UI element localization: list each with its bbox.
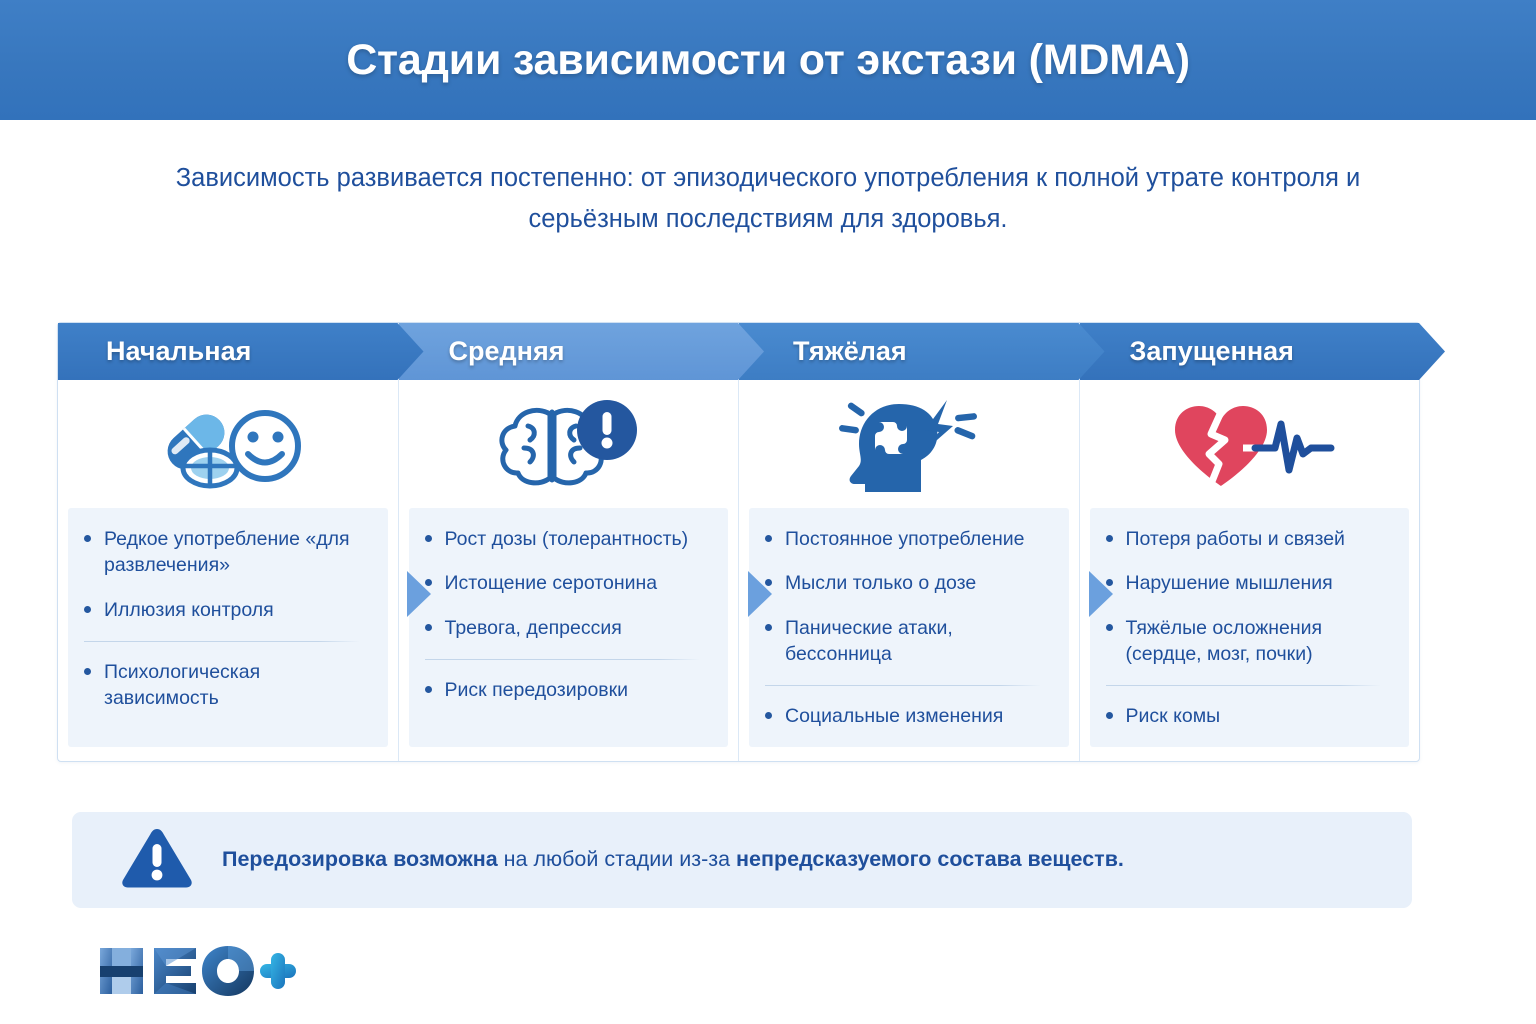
logo-neo-plus[interactable] — [96, 940, 296, 1002]
bullet-dot — [84, 535, 91, 542]
warning-text-bold-2: непредсказуемого состава веществ. — [736, 847, 1124, 871]
list-item-text: Тяжёлые осложнения (сердце, мозг, почки) — [1126, 617, 1323, 665]
list-item: Тяжёлые осложнения (сердце, мозг, почки) — [1104, 615, 1396, 668]
list-item-text: Риск комы — [1126, 705, 1221, 727]
list-item: Риск комы — [1104, 685, 1396, 729]
list-item: Истощение серотонина — [423, 570, 715, 596]
list-item-text: Постоянное употребление — [785, 528, 1025, 550]
bullet-dot — [425, 686, 432, 693]
warning-triangle-icon — [120, 826, 194, 895]
stages-card: Начальная — [57, 322, 1420, 762]
stage-body-severe: Постоянное употребление Мысли только о д… — [749, 508, 1069, 747]
warning-text: Передозировка возможна на любой стадии и… — [222, 845, 1124, 874]
page-subtitle: Зависимость развивается постепенно: от э… — [168, 158, 1368, 241]
bullet-dot — [765, 624, 772, 631]
broken-heart-ecg-icon — [1080, 380, 1420, 508]
bullet-dot — [84, 606, 91, 613]
stage-label: Начальная — [106, 336, 251, 367]
stage-column-initial[interactable]: Начальная — [58, 323, 399, 761]
bullet-dot — [425, 624, 432, 631]
list-item: Мысли только о дозе — [763, 570, 1055, 596]
list-item: Редкое употребление «для развлечения» — [82, 526, 374, 579]
stage-column-advanced[interactable]: Запущенная Потеря работы и связей Наруше… — [1080, 323, 1420, 761]
list-item-text: Панические атаки, бессонница — [785, 617, 953, 665]
logo-mark — [96, 940, 296, 1002]
warning-banner: Передозировка возможна на любой стадии и… — [72, 812, 1412, 908]
list-item-text: Потеря работы и связей — [1126, 528, 1345, 550]
bullet-dot — [425, 535, 432, 542]
list-item-text: Истощение серотонина — [445, 572, 658, 594]
warning-text-bold-1: Передозировка возможна — [222, 847, 498, 871]
stage-column-severe[interactable]: Тяжёлая — [739, 323, 1080, 761]
stage-banner-advanced[interactable]: Запущенная — [1080, 323, 1420, 380]
list-item-text: Редкое употребление «для развлечения» — [104, 528, 350, 576]
stage-column-moderate[interactable]: Средняя — [399, 323, 740, 761]
head-puzzle-lightning-icon — [739, 380, 1079, 508]
page-header: Стадии зависимости от экстази (MDMA) — [0, 0, 1536, 120]
stages-grid: Начальная — [58, 323, 1419, 761]
stage-bullet-list: Потеря работы и связей Нарушение мышлени… — [1104, 526, 1396, 730]
brain-alert-icon — [399, 380, 739, 508]
list-item: Постоянное употребление — [763, 526, 1055, 552]
page-title: Стадии зависимости от экстази (MDMA) — [346, 36, 1190, 85]
stage-banner-severe[interactable]: Тяжёлая — [739, 323, 1079, 380]
list-item-text: Нарушение мышления — [1126, 572, 1333, 594]
list-item-text: Мысли только о дозе — [785, 572, 976, 594]
list-item: Панические атаки, бессонница — [763, 615, 1055, 668]
bullet-dot — [1106, 535, 1113, 542]
pills-smiley-icon — [58, 380, 398, 508]
bullet-dot — [425, 579, 432, 586]
list-item: Потеря работы и связей — [1104, 526, 1396, 552]
bullet-dot — [1106, 712, 1113, 719]
list-item-text: Риск передозировки — [445, 679, 629, 701]
bullet-dot — [765, 712, 772, 719]
list-item-text: Психологическая зависимость — [104, 661, 260, 709]
stage-body-moderate: Рост дозы (толерантность) Истощение серо… — [409, 508, 729, 747]
list-item: Социальные изменения — [763, 685, 1055, 729]
list-item-text: Рост дозы (толерантность) — [445, 528, 689, 550]
stage-banner-initial[interactable]: Начальная — [58, 323, 398, 380]
bullet-dot — [765, 579, 772, 586]
list-item: Рост дозы (толерантность) — [423, 526, 715, 552]
list-item: Нарушение мышления — [1104, 570, 1396, 596]
list-item-text: Тревога, депрессия — [445, 617, 622, 639]
stage-label: Запущенная — [1130, 336, 1294, 367]
list-item: Тревога, депрессия — [423, 615, 715, 641]
stage-banner-moderate[interactable]: Средняя — [399, 323, 739, 380]
stage-body-advanced: Потеря работы и связей Нарушение мышлени… — [1090, 508, 1410, 747]
stage-label: Тяжёлая — [793, 336, 907, 367]
bullet-dot — [765, 535, 772, 542]
stage-body-initial: Редкое употребление «для развлечения» Ил… — [68, 508, 388, 747]
list-item: Риск передозировки — [423, 659, 715, 703]
warning-text-normal: на любой стадии из-за — [498, 847, 736, 871]
stage-label: Средняя — [449, 336, 565, 367]
stage-bullet-list: Рост дозы (толерантность) Истощение серо… — [423, 526, 715, 703]
list-item: Психологическая зависимость — [82, 641, 374, 712]
stage-bullet-list: Редкое употребление «для развлечения» Ил… — [82, 526, 374, 712]
bullet-dot — [1106, 624, 1113, 631]
list-item-text: Иллюзия контроля — [104, 599, 274, 621]
stage-bullet-list: Постоянное употребление Мысли только о д… — [763, 526, 1055, 730]
bullet-dot — [84, 668, 91, 675]
bullet-dot — [1106, 579, 1113, 586]
list-item: Иллюзия контроля — [82, 597, 374, 623]
list-item-text: Социальные изменения — [785, 705, 1003, 727]
